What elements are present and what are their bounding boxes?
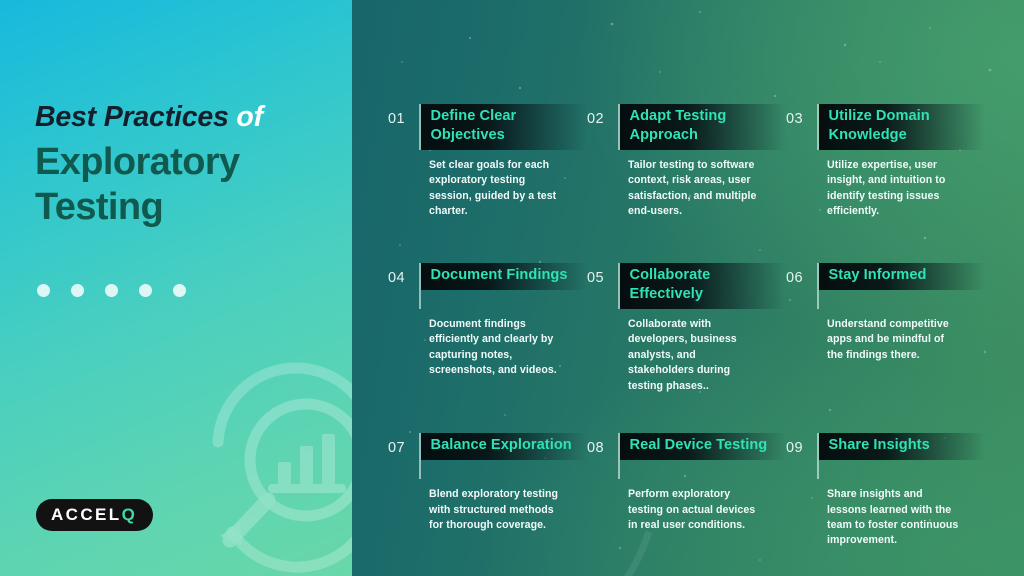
card-header: 03 Utilize Domain Knowledge xyxy=(786,104,985,150)
card-number: 03 xyxy=(786,104,817,127)
card-heading: Balance Exploration xyxy=(431,436,574,455)
infographic-canvas: Best Practices of Exploratory Testing AC… xyxy=(0,0,1024,576)
card-description: Utilize expertise, user insight, and int… xyxy=(827,158,962,220)
card-header: 08 Real Device Testing xyxy=(587,433,786,479)
card-number: 02 xyxy=(587,104,618,127)
accelq-logo: ACCELQ xyxy=(36,499,153,531)
practice-card-03: 03 Utilize Domain Knowledge Utilize expe… xyxy=(786,104,985,220)
logo-text-main: ACCEL xyxy=(51,505,122,524)
card-description: Collaborate with developers, business an… xyxy=(628,317,763,394)
card-heading-badge: Balance Exploration xyxy=(421,433,588,460)
decorative-dots xyxy=(37,284,186,297)
dot xyxy=(139,284,152,297)
card-heading: Collaborate Effectively xyxy=(630,266,773,304)
best-practices-grid: 01 Define Clear Objectives Set clear goa… xyxy=(388,104,1024,549)
card-header: 01 Define Clear Objectives xyxy=(388,104,587,150)
card-header: 05 Collaborate Effectively xyxy=(587,263,786,309)
practice-card-06: 06 Stay Informed Understand competitive … xyxy=(786,263,985,394)
practice-card-02: 02 Adapt Testing Approach Tailor testing… xyxy=(587,104,786,220)
practice-card-08: 08 Real Device Testing Perform explorato… xyxy=(587,433,786,549)
card-header: 07 Balance Exploration xyxy=(388,433,587,479)
card-header: 09 Share Insights xyxy=(786,433,985,479)
card-heading-badge: Adapt Testing Approach xyxy=(620,104,787,150)
card-number: 09 xyxy=(786,433,817,456)
practice-card-05: 05 Collaborate Effectively Collaborate w… xyxy=(587,263,786,394)
card-heading-badge: Share Insights xyxy=(819,433,986,460)
card-heading: Stay Informed xyxy=(829,266,972,285)
card-heading: Define Clear Objectives xyxy=(431,107,574,145)
card-description: Document findings efficiently and clearl… xyxy=(429,317,564,379)
card-number: 04 xyxy=(388,263,419,286)
card-heading-badge: Document Findings xyxy=(421,263,588,290)
card-description: Set clear goals for each exploratory tes… xyxy=(429,158,564,220)
card-number: 07 xyxy=(388,433,419,456)
card-heading-badge: Define Clear Objectives xyxy=(421,104,588,150)
card-row-1: 01 Define Clear Objectives Set clear goa… xyxy=(388,104,1024,220)
card-heading-badge: Stay Informed xyxy=(819,263,986,290)
card-heading-badge: Utilize Domain Knowledge xyxy=(819,104,986,150)
card-number: 06 xyxy=(786,263,817,286)
card-header: 06 Stay Informed xyxy=(786,263,985,309)
practice-card-07: 07 Balance Exploration Blend exploratory… xyxy=(388,433,587,549)
card-row-3: 07 Balance Exploration Blend exploratory… xyxy=(388,433,1024,549)
practice-card-01: 01 Define Clear Objectives Set clear goa… xyxy=(388,104,587,220)
card-description: Understand competitive apps and be mindf… xyxy=(827,317,962,363)
card-heading: Utilize Domain Knowledge xyxy=(829,107,972,145)
dot xyxy=(37,284,50,297)
practice-card-04: 04 Document Findings Document findings e… xyxy=(388,263,587,394)
title-line-2: Exploratory Testing xyxy=(35,140,352,230)
title-main: Best Practices xyxy=(35,101,229,133)
logo-text-accent: Q xyxy=(122,505,138,524)
practice-card-09: 09 Share Insights Share insights and les… xyxy=(786,433,985,549)
dot xyxy=(173,284,186,297)
dot xyxy=(71,284,84,297)
card-heading: Adapt Testing Approach xyxy=(630,107,773,145)
card-description: Blend exploratory testing with structure… xyxy=(429,487,564,533)
card-description: Perform exploratory testing on actual de… xyxy=(628,487,763,533)
title-line-1: Best Practices of xyxy=(35,102,352,134)
card-heading-badge: Collaborate Effectively xyxy=(620,263,787,309)
page-title: Best Practices of Exploratory Testing xyxy=(35,102,352,230)
card-header: 02 Adapt Testing Approach xyxy=(587,104,786,150)
card-row-2: 04 Document Findings Document findings e… xyxy=(388,263,1024,394)
dot xyxy=(105,284,118,297)
card-description: Share insights and lessons learned with … xyxy=(827,487,962,549)
card-heading-badge: Real Device Testing xyxy=(620,433,787,460)
card-description: Tailor testing to software context, risk… xyxy=(628,158,763,220)
title-suffix: of xyxy=(236,101,263,133)
logo-text: ACCELQ xyxy=(51,506,137,523)
card-heading: Share Insights xyxy=(829,436,972,455)
card-heading: Real Device Testing xyxy=(630,436,773,455)
card-header: 04 Document Findings xyxy=(388,263,587,309)
card-number: 08 xyxy=(587,433,618,456)
card-heading: Document Findings xyxy=(431,266,574,285)
card-number: 01 xyxy=(388,104,419,127)
card-number: 05 xyxy=(587,263,618,286)
left-panel: Best Practices of Exploratory Testing AC… xyxy=(0,0,352,576)
